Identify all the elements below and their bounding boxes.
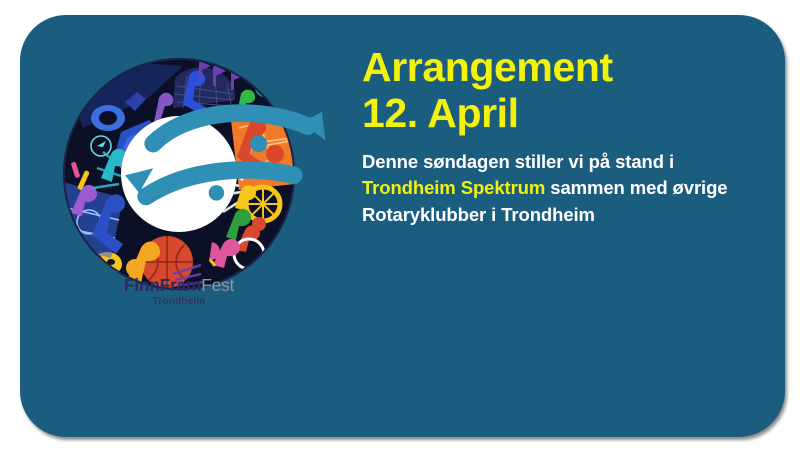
logo-city: Trondheim: [118, 296, 240, 306]
finnframfest-logo: FinnFramFest Trondheim: [63, 58, 295, 290]
event-heading: Arrangement 12. April: [362, 44, 772, 137]
event-description: Denne søndagen stiller vi på stand i Tro…: [362, 149, 772, 228]
event-announcement-card: FinnFramFest Trondheim Arrangement 12. A…: [20, 15, 785, 437]
event-venue-highlight: Trondheim Spektrum: [362, 177, 545, 198]
event-description-part-1: Denne søndagen stiller vi på stand i: [362, 151, 674, 172]
event-text-block: Arrangement 12. April Denne søndagen sti…: [362, 44, 772, 228]
logo-inner-disc: [121, 116, 237, 232]
